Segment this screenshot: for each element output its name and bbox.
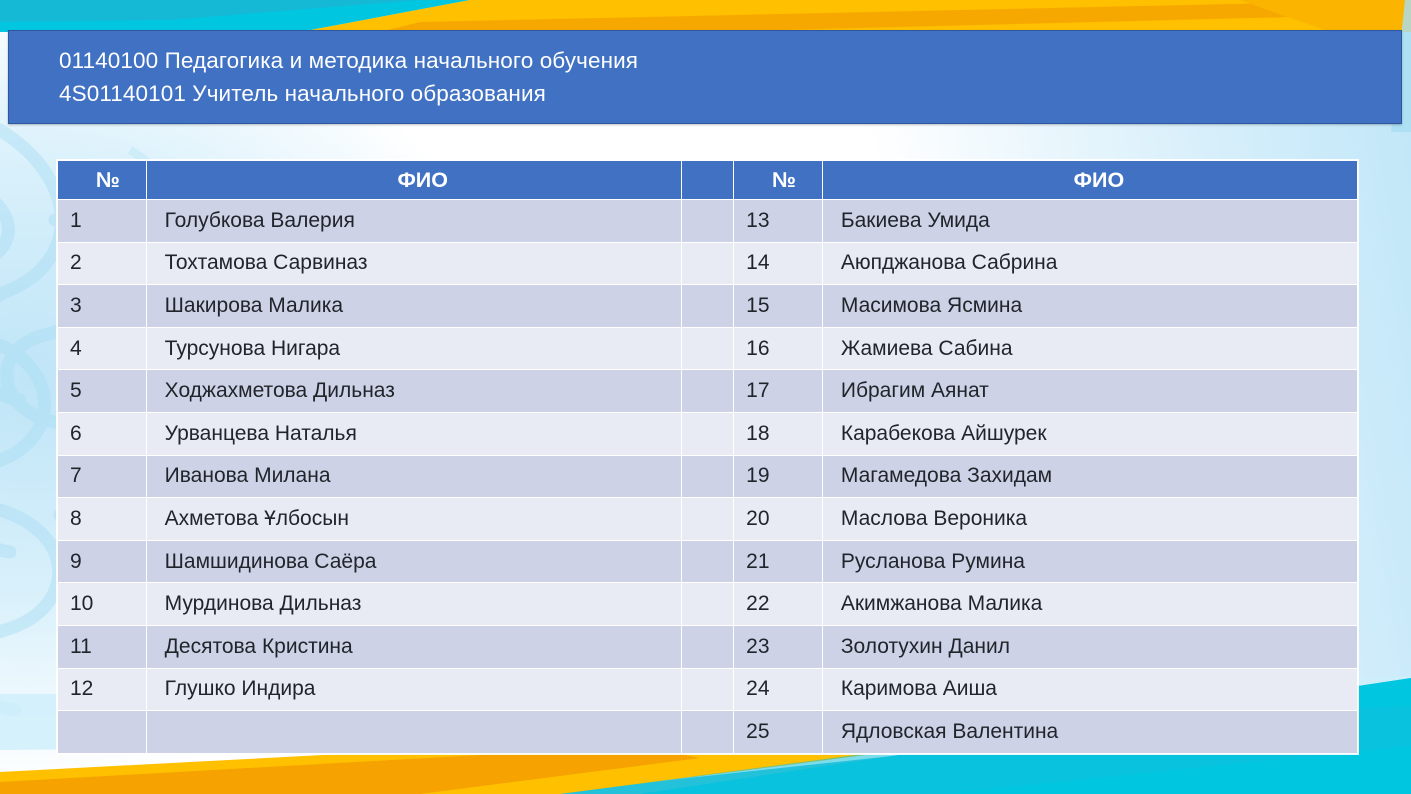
cell-num-right: 17 — [734, 370, 823, 413]
cell-num-right: 19 — [734, 455, 823, 498]
cell-name-right: Ибрагим Аянат — [822, 370, 1357, 413]
cell-num-left: 10 — [58, 583, 147, 626]
table-row: 3Шакирова Малика15Масимова Ясмина — [58, 285, 1358, 328]
cell-name-right: Каримова Аиша — [822, 668, 1357, 711]
cell-name-right: Жамиева Сабина — [822, 327, 1357, 370]
cell-num-right: 13 — [734, 200, 823, 243]
table-row: 10Мурдинова Дильназ22Акимжанова Малика — [58, 583, 1358, 626]
cell-num-left: 9 — [58, 540, 147, 583]
cell-name-left: Иванова Милана — [146, 455, 681, 498]
cell-spacer — [681, 242, 733, 285]
cell-num-right: 24 — [734, 668, 823, 711]
table-row: 4Турсунова Нигара16Жамиева Сабина — [58, 327, 1358, 370]
top-decoration-band — [0, 0, 1411, 32]
column-header-spacer — [681, 161, 733, 200]
cell-num-left — [58, 711, 147, 754]
column-header-num-right: № — [734, 161, 823, 200]
table-row: 9Шамшидинова Саёра21Русланова Румина — [58, 540, 1358, 583]
cell-name-left: Турсунова Нигара — [146, 327, 681, 370]
table-row: 12Глушко Индира24Каримова Аиша — [58, 668, 1358, 711]
cell-spacer — [681, 498, 733, 541]
cell-num-left: 2 — [58, 242, 147, 285]
cell-name-left: Ходжахметова Дильназ — [146, 370, 681, 413]
cell-spacer — [681, 327, 733, 370]
cell-num-right: 21 — [734, 540, 823, 583]
cell-spacer — [681, 625, 733, 668]
cell-name-right: Бакиева Умида — [822, 200, 1357, 243]
slide-title-bar: 01140100 Педагогика и методика начальног… — [8, 30, 1402, 124]
student-roster-table: № ФИО № ФИО 1Голубкова Валерия13Бакиева … — [57, 160, 1358, 754]
cell-num-left: 5 — [58, 370, 147, 413]
cell-name-right: Ядловская Валентина — [822, 711, 1357, 754]
column-header-name-left: ФИО — [146, 161, 681, 200]
title-line-2: 4S01140101 Учитель начального образовани… — [59, 77, 1401, 110]
cell-num-left: 3 — [58, 285, 147, 328]
cell-num-left: 12 — [58, 668, 147, 711]
title-line-1: 01140100 Педагогика и методика начальног… — [59, 44, 1401, 77]
slide: 01140100 Педагогика и методика начальног… — [0, 0, 1411, 794]
table-row: 5Ходжахметова Дильназ17Ибрагим Аянат — [58, 370, 1358, 413]
cell-spacer — [681, 540, 733, 583]
cell-num-left: 6 — [58, 412, 147, 455]
cell-spacer — [681, 711, 733, 754]
table-body: 1Голубкова Валерия13Бакиева Умида2Тохтам… — [58, 200, 1358, 754]
cell-name-right: Русланова Румина — [822, 540, 1357, 583]
table-row: 8Ахметова Ұлбосын20Маслова Вероника — [58, 498, 1358, 541]
cell-name-left: Ахметова Ұлбосын — [146, 498, 681, 541]
cell-num-left: 8 — [58, 498, 147, 541]
cell-spacer — [681, 370, 733, 413]
cell-spacer — [681, 455, 733, 498]
cell-num-right: 15 — [734, 285, 823, 328]
table-header-row: № ФИО № ФИО — [58, 161, 1358, 200]
cell-name-right: Масимова Ясмина — [822, 285, 1357, 328]
cell-name-left: Урванцева Наталья — [146, 412, 681, 455]
cell-name-left: Десятова Кристина — [146, 625, 681, 668]
cell-num-left: 7 — [58, 455, 147, 498]
column-header-num-left: № — [58, 161, 147, 200]
cell-spacer — [681, 412, 733, 455]
column-header-name-right: ФИО — [822, 161, 1357, 200]
cell-num-right: 20 — [734, 498, 823, 541]
cell-name-left: Голубкова Валерия — [146, 200, 681, 243]
cell-name-left — [146, 711, 681, 754]
table-row: 25Ядловская Валентина — [58, 711, 1358, 754]
cell-spacer — [681, 668, 733, 711]
table-row: 1Голубкова Валерия13Бакиева Умида — [58, 200, 1358, 243]
cell-name-right: Магамедова Захидам — [822, 455, 1357, 498]
cell-name-right: Маслова Вероника — [822, 498, 1357, 541]
cell-num-right: 22 — [734, 583, 823, 626]
cell-spacer — [681, 285, 733, 328]
cell-name-right: Карабекова Айшурек — [822, 412, 1357, 455]
cell-name-left: Шамшидинова Саёра — [146, 540, 681, 583]
cell-name-left: Шакирова Малика — [146, 285, 681, 328]
cell-spacer — [681, 200, 733, 243]
cell-name-right: Акимжанова Малика — [822, 583, 1357, 626]
cell-num-left: 1 — [58, 200, 147, 243]
table-row: 6Урванцева Наталья18Карабекова Айшурек — [58, 412, 1358, 455]
cell-num-right: 18 — [734, 412, 823, 455]
cell-num-right: 25 — [734, 711, 823, 754]
table-row: 11Десятова Кристина23Золотухин Данил — [58, 625, 1358, 668]
cell-name-left: Глушко Индира — [146, 668, 681, 711]
cell-name-left: Тохтамова Сарвиназ — [146, 242, 681, 285]
cell-name-left: Мурдинова Дильназ — [146, 583, 681, 626]
cell-spacer — [681, 583, 733, 626]
cell-num-right: 14 — [734, 242, 823, 285]
cell-num-left: 4 — [58, 327, 147, 370]
cell-name-right: Аюпджанова Сабрина — [822, 242, 1357, 285]
table-row: 7Иванова Милана19Магамедова Захидам — [58, 455, 1358, 498]
table-row: 2Тохтамова Сарвиназ14Аюпджанова Сабрина — [58, 242, 1358, 285]
cell-num-right: 16 — [734, 327, 823, 370]
cell-num-right: 23 — [734, 625, 823, 668]
cell-num-left: 11 — [58, 625, 147, 668]
cell-name-right: Золотухин Данил — [822, 625, 1357, 668]
